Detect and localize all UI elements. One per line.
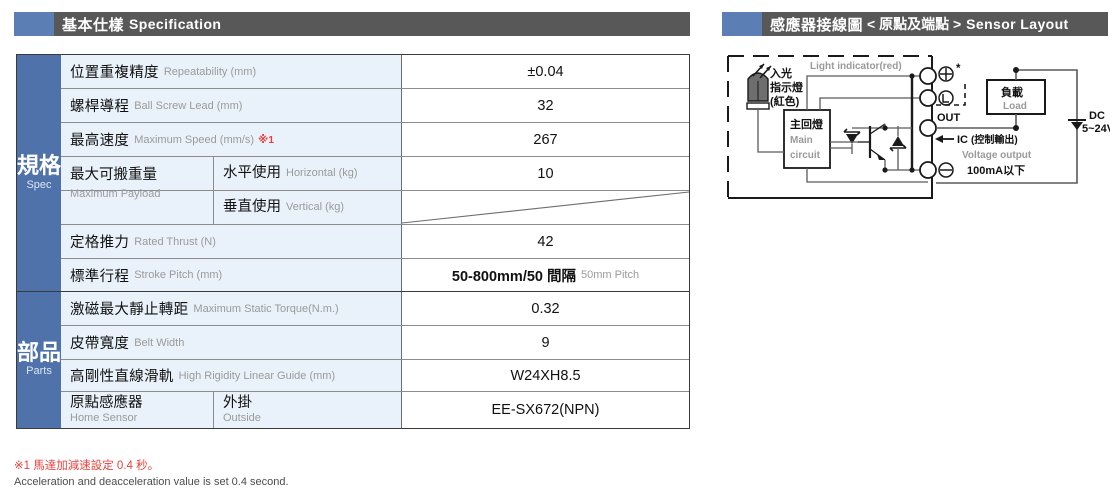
table-row: 螺桿導程 Ball Screw Lead (mm) 32 [61, 89, 689, 123]
sensor-circuit-svg: Light indicator(red) 入光 指示燈 (紅色) 主回燈 Mai… [722, 48, 1110, 218]
terminal-minus-node [920, 162, 936, 178]
sub-label-en: Outside [223, 412, 401, 425]
ic-label: IC [957, 134, 968, 146]
table-group-spec: 規格 Spec 位置重複精度 Repeatability (mm) ±0.04 … [17, 55, 689, 292]
label-en: Rated Thrust (N) [134, 236, 216, 248]
table-row: 原點感應器 Home Sensor 外掛 Outside EE-SX672(NP… [61, 392, 689, 428]
row-value-cell: 0.32 [402, 292, 689, 325]
sensor-layout-section-header: 感應器接線圖 < 原點及端點 > Sensor Layout [722, 12, 1108, 36]
label-cn: 定格推力 [70, 231, 129, 252]
table-row: 標準行程 Stroke Pitch (mm) 50-800mm/50 間隔 50… [61, 259, 689, 291]
ic-label-cn: (控制輸出) [971, 133, 1018, 146]
sensor-title-en: Sensor Layout [966, 16, 1068, 32]
table-group-parts: 部品 Parts 激磁最大靜止轉距 Maximum Static Torque(… [17, 292, 689, 428]
header-title-bar: 基本仕樣 Specification [54, 12, 690, 36]
row-label: 最高速度 Maximum Speed (mm/s) ※1 [61, 123, 402, 156]
group-tab-spec: 規格 Spec [17, 55, 61, 291]
sub-label-en: Vertical (kg) [286, 201, 344, 214]
main-circuit-label-cn: 主回燈 [790, 117, 824, 131]
footnote-block: ※1 馬達加減速設定 0.4 秒。 Acceleration and deacc… [14, 458, 614, 491]
label-cn: 高剛性直線滑軌 [70, 365, 174, 386]
table-row: 高剛性直線滑軌 High Rigidity Linear Guide (mm) … [61, 360, 689, 392]
row-value: 267 [533, 132, 557, 148]
diagonal-strike-icon [402, 191, 689, 224]
table-row: 皮帶寬度 Belt Width 9 [61, 326, 689, 360]
row-label: 定格推力 Rated Thrust (N) [61, 225, 402, 258]
light-indicator-label-cn-3: (紅色) [770, 94, 800, 108]
current-limit-label: 100mA以下 [967, 164, 1025, 177]
dc-label: DC [1089, 110, 1105, 122]
header-accent-block [14, 12, 54, 36]
terminal-plus-node [920, 68, 936, 84]
group-tab-label-cn: 規格 [17, 155, 61, 177]
header-title-bar: 感應器接線圖 < 原點及端點 > Sensor Layout [762, 12, 1108, 36]
group-tab-label-cn: 部品 [17, 342, 61, 364]
label-cn: 原點感應器 [70, 395, 213, 412]
label-cn: 最大可搬重量 [70, 167, 157, 184]
label-en: Belt Width [134, 337, 184, 349]
row-value: ±0.04 [527, 64, 563, 80]
footnote-line-en: Acceleration and deacceleration value is… [14, 475, 614, 491]
row-label: 皮帶寬度 Belt Width [61, 326, 402, 359]
header-accent-block [722, 12, 762, 36]
terminal-plus-asterisk: * [956, 63, 961, 75]
row-value-cell: ±0.04 [402, 55, 689, 88]
table-row: 定格推力 Rated Thrust (N) 42 [61, 225, 689, 259]
row-value: 50-800mm/50 間隔 [452, 265, 576, 286]
npn-transistor-icon [830, 124, 885, 170]
zener-diode-2-icon [890, 126, 906, 170]
row-value-sub: 50mm Pitch [581, 269, 639, 281]
terminal-plus-icon [939, 67, 953, 81]
row-value-cell: W24XH8.5 [402, 360, 689, 391]
terminal-minus-icon [939, 163, 953, 177]
junction-dot [882, 125, 887, 130]
sub-label-cn: 外掛 [223, 395, 401, 412]
label-cn: 螺桿導程 [70, 95, 129, 116]
junction-dot [1013, 125, 1019, 131]
row-value-cell: 9 [402, 326, 689, 359]
table-row: 激磁最大靜止轉距 Maximum Static Torque(N.m.) 0.3… [61, 292, 689, 326]
light-indicator-label-cn-2: 指示燈 [770, 80, 804, 94]
row-value-cell: 32 [402, 89, 689, 122]
row-value: W24XH8.5 [510, 368, 580, 384]
label-en: Maximum Static Torque(N.m.) [193, 303, 338, 315]
row-value-cell: 10 [402, 157, 689, 190]
row-value: 42 [537, 234, 553, 250]
row-label: 標準行程 Stroke Pitch (mm) [61, 259, 402, 291]
load-label-cn: 負載 [1001, 85, 1023, 99]
terminal-out-node [920, 120, 936, 136]
terminal-out-label: OUT [937, 112, 961, 124]
spec-title-cn: 基本仕樣 [62, 14, 124, 35]
sub-label-cn: 垂直使用 [223, 199, 281, 216]
junction-dot [909, 167, 914, 172]
payload-sub-vertical: 垂直使用 Vertical (kg) [213, 191, 401, 224]
row-label-split: 最大可搬重量 Maximum Payload 水平使用 Horizontal (… [61, 157, 402, 190]
dc-range-label: 5~24V [1082, 123, 1110, 135]
specification-table: 規格 Spec 位置重複精度 Repeatability (mm) ±0.04 … [16, 54, 690, 429]
group-rows-parts: 激磁最大靜止轉距 Maximum Static Torque(N.m.) 0.3… [61, 292, 689, 428]
main-circuit-label-en-2: circuit [790, 150, 821, 161]
table-row: 位置重複精度 Repeatability (mm) ±0.04 [61, 55, 689, 89]
ic-arrow-icon [935, 135, 954, 143]
label-en: High Rigidity Linear Guide (mm) [179, 370, 336, 382]
junction-dot [909, 73, 914, 78]
label-en: Ball Screw Lead (mm) [134, 100, 242, 112]
row-label: 螺桿導程 Ball Screw Lead (mm) [61, 89, 402, 122]
row-label: 位置重複精度 Repeatability (mm) [61, 55, 402, 88]
row-label: 激磁最大靜止轉距 Maximum Static Torque(N.m.) [61, 292, 402, 325]
terminal-l-icon [939, 91, 953, 105]
light-indicator-label-cn-1: 入光 [770, 66, 792, 80]
junction-dot [882, 167, 887, 172]
home-sensor-label: 原點感應器 Home Sensor [61, 392, 213, 428]
row-value: 10 [537, 166, 553, 182]
label-en: Home Sensor [70, 412, 213, 425]
table-row: 最大可搬重量 Maximum Payload 水平使用 Horizontal (… [61, 157, 689, 191]
main-circuit-label-en-1: Main [790, 135, 813, 146]
load-label-en: Load [1003, 101, 1027, 112]
junction-dot [1013, 67, 1019, 73]
terminal-l-node [920, 90, 936, 106]
sensor-title-cn: 感應器接線圖 [770, 14, 863, 35]
light-indicator-label-en: Light indicator(red) [810, 61, 902, 72]
row-value-cell: 267 [402, 123, 689, 156]
group-tab-label-en: Parts [26, 366, 52, 377]
home-sensor-sub-outside: 外掛 Outside [213, 392, 401, 428]
row-value: 0.32 [531, 301, 559, 317]
group-rows-spec: 位置重複精度 Repeatability (mm) ±0.04 螺桿導程 Bal… [61, 55, 689, 291]
label-en: Stroke Pitch (mm) [134, 269, 222, 281]
row-value: EE-SX672(NPN) [492, 402, 600, 418]
voltage-output-label: Voltage output [962, 150, 1032, 161]
sub-label-en: Horizontal (kg) [286, 167, 358, 180]
row-value-cell: 50-800mm/50 間隔 50mm Pitch [402, 259, 689, 291]
row-value-cell: 42 [402, 225, 689, 258]
sensor-wiring-diagram: Light indicator(red) 入光 指示燈 (紅色) 主回燈 Mai… [722, 48, 1110, 218]
label-cn: 皮帶寬度 [70, 332, 129, 353]
label-cn: 位置重複精度 [70, 61, 159, 82]
sensor-title-angle: < 原點及端點 > [867, 14, 961, 34]
payload-label-group: 最大可搬重量 Maximum Payload [61, 157, 213, 190]
row-value-cell: EE-SX672(NPN) [402, 392, 689, 428]
group-tab-parts: 部品 Parts [17, 292, 61, 428]
label-cn: 激磁最大靜止轉距 [70, 298, 188, 319]
row-label-split: 原點感應器 Home Sensor 外掛 Outside [61, 392, 402, 428]
label-en: Maximum Payload [70, 188, 160, 201]
label-en: Repeatability (mm) [164, 66, 256, 78]
spec-title-en: Specification [129, 16, 221, 32]
payload-sub-horizontal: 水平使用 Horizontal (kg) [213, 157, 401, 190]
led-indicator-icon [747, 64, 771, 109]
label-cn: 最高速度 [70, 129, 129, 150]
sub-label-cn: 水平使用 [223, 165, 281, 182]
row-value: 9 [541, 335, 549, 351]
footnote-line-cn: ※1 馬達加減速設定 0.4 秒。 [14, 458, 614, 475]
label-cn: 標準行程 [70, 265, 129, 286]
group-tab-label-en: Spec [26, 180, 51, 191]
row-value-cell-not-available [402, 191, 689, 224]
table-row: 最高速度 Maximum Speed (mm/s) ※1 267 [61, 123, 689, 157]
row-value: 32 [537, 98, 553, 114]
row-label: 高剛性直線滑軌 High Rigidity Linear Guide (mm) [61, 360, 402, 391]
specification-section-header: 基本仕樣 Specification [14, 12, 690, 36]
label-en: Maximum Speed (mm/s) [134, 134, 254, 146]
footnote-marker: ※1 [258, 134, 274, 146]
